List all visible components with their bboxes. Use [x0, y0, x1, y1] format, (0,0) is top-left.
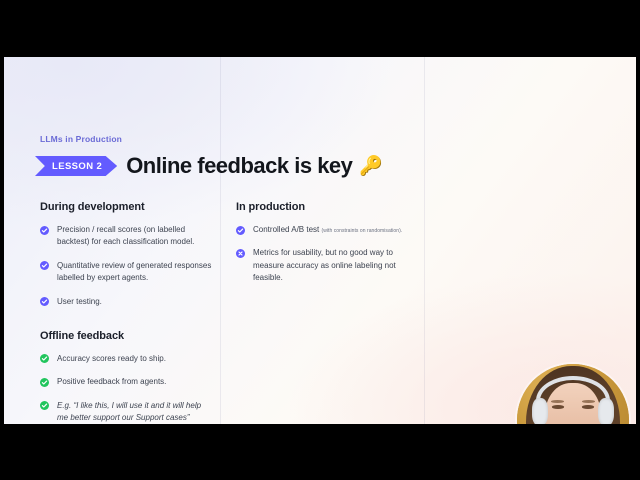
list-item-text: Quantitative review of generated respons… — [57, 261, 211, 282]
section-heading-in-production: In production — [236, 201, 414, 213]
headphone-cup-right — [598, 398, 615, 424]
presentation-slide: LLMs in Production LESSON 2 Online feedb… — [4, 57, 636, 424]
slide-title-row: LESSON 2 Online feedback is key 🔑 — [35, 153, 383, 179]
check-circle-green-icon — [40, 401, 49, 410]
webcam-eye-left — [552, 405, 564, 408]
list-item-text: Precision / recall scores (on labelled b… — [57, 225, 194, 246]
list-item: User testing. — [40, 296, 212, 308]
check-circle-green-icon — [40, 354, 49, 363]
check-circle-purple-icon — [40, 261, 49, 270]
check-circle-green-icon — [40, 378, 49, 387]
video-player-frame: LLMs in Production LESSON 2 Online feedb… — [0, 0, 640, 480]
list-item: E.g. “I like this, I will use it and it … — [40, 400, 212, 424]
lesson-badge: LESSON 2 — [35, 156, 117, 176]
list-item-text: Controlled A/B test — [253, 225, 319, 234]
list-item: Positive feedback from agents. — [40, 376, 212, 388]
key-icon: 🔑 — [359, 154, 382, 178]
list-item: Controlled A/B test (with constraints on… — [236, 224, 414, 236]
list-item-text: User testing. — [57, 297, 102, 306]
list-item-fineprint: (with constraints on randomisation). — [322, 228, 403, 234]
headphone-cup-left — [532, 398, 549, 424]
list-item: Accuracy scores ready to ship. — [40, 353, 212, 365]
list-item: Quantitative review of generated respons… — [40, 260, 212, 285]
bullet-list-in-production: Controlled A/B test (with constraints on… — [236, 224, 414, 285]
check-circle-purple-icon — [40, 226, 49, 235]
list-item-text: Metrics for usability, but no good way t… — [253, 248, 396, 282]
left-column: During development Precision / recall sc… — [40, 201, 212, 424]
section-heading-offline-feedback: Offline feedback — [40, 330, 212, 342]
column-divider-1 — [220, 57, 221, 424]
cross-circle-purple-icon — [236, 249, 245, 258]
column-divider-2 — [424, 57, 425, 424]
page-title: Online feedback is key 🔑 — [126, 153, 382, 179]
list-item-text: Accuracy scores ready to ship. — [57, 354, 166, 363]
check-circle-purple-icon — [40, 297, 49, 306]
list-item-text: E.g. “I like this, I will use it and it … — [57, 401, 201, 422]
list-item-text: Positive feedback from agents. — [57, 377, 166, 386]
slide-title-text: Online feedback is key — [126, 153, 352, 179]
bullet-list-offline-feedback: Accuracy scores ready to ship. Positive … — [40, 353, 212, 424]
presenter-webcam — [517, 364, 629, 424]
slide-eyebrow: LLMs in Production — [40, 134, 122, 144]
list-item: Precision / recall scores (on labelled b… — [40, 224, 212, 249]
right-column: In production Controlled A/B test (with … — [236, 201, 414, 285]
bullet-list-during-development: Precision / recall scores (on labelled b… — [40, 224, 212, 308]
webcam-eye-right — [582, 405, 594, 408]
section-heading-during-development: During development — [40, 201, 212, 213]
check-circle-purple-icon — [236, 226, 245, 235]
list-item: Metrics for usability, but no good way t… — [236, 247, 414, 284]
